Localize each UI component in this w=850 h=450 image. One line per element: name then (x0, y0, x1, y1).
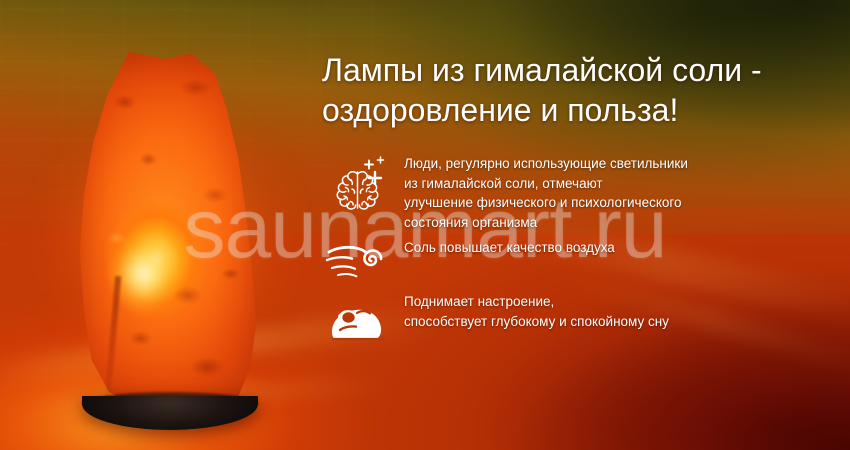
benefit-line: Люди, регулярно использующие светильники (404, 154, 688, 174)
wind-icon (318, 238, 404, 286)
list-item: Люди, регулярно использующие светильники… (318, 152, 850, 232)
headline-line-2: оздоровление и польза! (322, 90, 842, 130)
benefit-line: состояния организма (404, 213, 688, 233)
benefit-line: из гималайской соли, отмечают (404, 174, 688, 194)
promo-content: Лампы из гималайской соли - оздоровление… (318, 0, 850, 450)
brain-icon (318, 152, 404, 218)
salt-lamp-promo-banner: saunamart.ru Лампы из гималайской соли -… (0, 0, 850, 450)
benefit-line: Соль повышает качество воздуха (404, 238, 615, 258)
benefit-line: способствует глубокому и спокойному сну (404, 312, 669, 332)
list-item: Поднимает настроение, способствует глубо… (318, 292, 850, 350)
benefit-text: Соль повышает качество воздуха (404, 238, 615, 258)
benefit-text: Поднимает настроение, способствует глубо… (404, 292, 669, 331)
benefit-list: Люди, регулярно использующие светильники… (318, 152, 850, 350)
benefit-line: улучшение физического и психологического (404, 193, 688, 213)
benefit-text: Люди, регулярно использующие светильники… (404, 152, 688, 232)
benefit-line: Поднимает настроение, (404, 292, 669, 312)
sleeping-person-icon (318, 292, 404, 350)
list-item: Соль повышает качество воздуха (318, 238, 850, 286)
page-title: Лампы из гималайской соли - оздоровление… (322, 50, 842, 130)
salt-lamp-photo (52, 44, 282, 444)
headline-line-1: Лампы из гималайской соли - (322, 52, 762, 88)
